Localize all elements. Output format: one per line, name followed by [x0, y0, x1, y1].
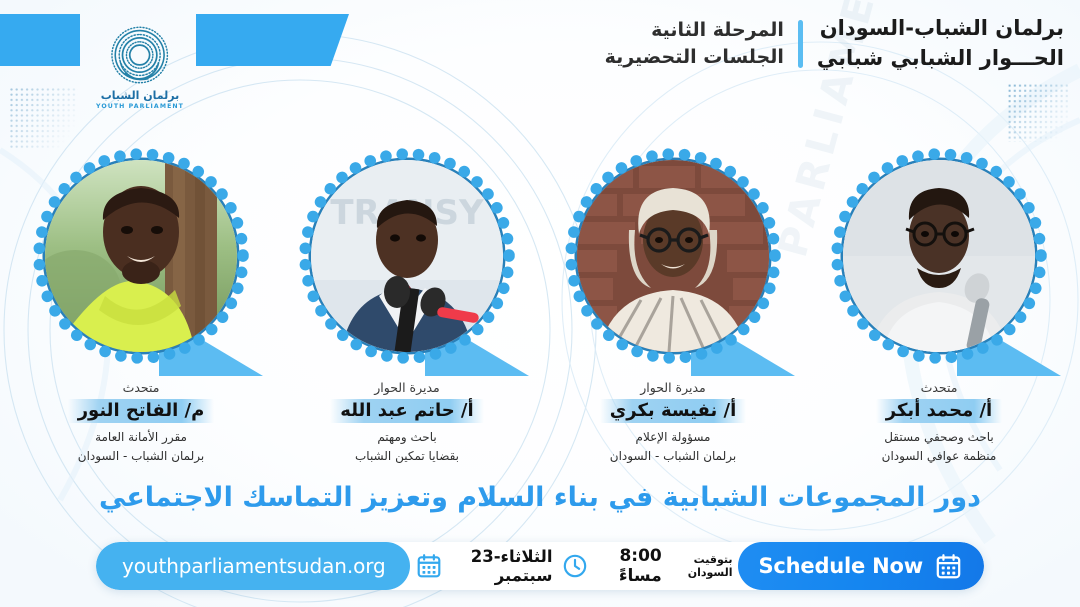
speaker-role: مديرة الحوار: [278, 380, 536, 395]
speaker-name-wrap: أ/ نفيسة بكري: [544, 399, 802, 423]
speaker-name: أ/ محمد أبكر: [876, 399, 1002, 423]
logo-text-english: YOUTH PARLIAMENT: [90, 103, 190, 110]
speakers-row: متحدث م/ الفاتح النور مقرر الأمانة العام…: [0, 148, 1080, 468]
main-title: دور المجموعات الشبابية في بناء السلام وت…: [0, 480, 1080, 516]
speaker-card: متحدث م/ الفاتح النور مقرر الأمانة العام…: [12, 148, 270, 465]
photo-dot-ring: [565, 148, 781, 364]
speaker-name-wrap: م/ الفاتح النور: [12, 399, 270, 423]
speaker-name-wrap: أ/ محمد أبكر: [810, 399, 1068, 423]
speaker-card: TRANSY: [278, 148, 536, 465]
speaker-role: متحدث: [810, 380, 1068, 395]
dot-grid-right: [1008, 84, 1070, 142]
speaker-info: مديرة الحوار أ/ نفيسة بكري مسؤولة الإعلا…: [544, 380, 802, 465]
speaker-name: أ/ نفيسة بكري: [600, 399, 747, 423]
header-subtitle: المرحلة الثانية الجلسات التحضيرية: [605, 17, 784, 71]
calendar-icon: [416, 553, 442, 579]
speaker-info: مديرة الحوار أ/ حاتم عبد الله باحث ومهتم…: [278, 380, 536, 465]
brand-logo: برلمان الشباب YOUTH PARLIAMENT: [90, 22, 190, 110]
header-subtitle-line2: الجلسات التحضيرية: [605, 44, 784, 71]
event-details: الثلاثاء-23 سبتمبر 8:00 مساءً بتوقيت الس…: [410, 546, 739, 586]
speaker-org-line2: بقضايا تمكين الشباب: [278, 447, 536, 466]
header-title-line1: برلمان الشباب-السودان: [817, 14, 1064, 44]
speaker-org-line1: مقرر الأمانة العامة: [12, 428, 270, 447]
speaker-photo-wrap: TRANSY: [299, 148, 515, 364]
speaker-photo-wrap: [831, 148, 1047, 364]
speaker-card: متحدث أ/ محمد أبكر باحث وصحفي مستقل منظم…: [810, 148, 1068, 465]
speaker-photo-wrap: [33, 148, 249, 364]
header-block: برلمان الشباب-السودان الحـــوار الشبابي …: [605, 14, 1064, 74]
header-title: برلمان الشباب-السودان الحـــوار الشبابي …: [817, 14, 1064, 74]
speaker-org-line1: مسؤولة الإعلام: [544, 428, 802, 447]
photo-dot-ring: [299, 148, 515, 364]
dot-grid-left: [10, 88, 78, 150]
speaker-name: أ/ حاتم عبد الله: [330, 399, 483, 423]
clock-icon: [562, 553, 588, 579]
logo-text-arabic: برلمان الشباب: [90, 90, 190, 102]
header-title-line2: الحـــوار الشبابي شبابي: [817, 44, 1064, 74]
event-time: 8:00 مساءً: [598, 546, 661, 586]
speaker-photo-wrap: [565, 148, 781, 364]
speaker-org-line2: منظمة عوافي السودان: [810, 447, 1068, 466]
decor-rectangle: [0, 14, 80, 66]
speaker-name-wrap: أ/ حاتم عبد الله: [278, 399, 536, 423]
photo-dot-ring: [33, 148, 249, 364]
website-pill[interactable]: youthparliamentsudan.org: [96, 542, 410, 590]
speaker-card: مديرة الحوار أ/ نفيسة بكري مسؤولة الإعلا…: [544, 148, 802, 465]
header-subtitle-line1: المرحلة الثانية: [605, 17, 784, 44]
speaker-info: متحدث أ/ محمد أبكر باحث وصحفي مستقل منظم…: [810, 380, 1068, 465]
event-timezone: بتوقيت السودان: [672, 553, 733, 579]
speaker-org-line1: باحث ومهتم: [278, 428, 536, 447]
photo-dot-ring: [831, 148, 1047, 364]
calendar-icon: [935, 553, 962, 580]
speaker-org-line2: برلمان الشباب - السودان: [544, 447, 802, 466]
event-date: الثلاثاء-23 سبتمبر: [452, 547, 553, 585]
schedule-now-button[interactable]: Schedule Now: [738, 542, 984, 590]
website-url: youthparliamentsudan.org: [122, 554, 386, 578]
spiral-swirl-icon: [107, 22, 173, 88]
schedule-button-label: Schedule Now: [758, 554, 923, 578]
speaker-role: مديرة الحوار: [544, 380, 802, 395]
speaker-org-line1: باحث وصحفي مستقل: [810, 428, 1068, 447]
speaker-role: متحدث: [12, 380, 270, 395]
speaker-org-line2: برلمان الشباب - السودان: [12, 447, 270, 466]
speaker-name: م/ الفاتح النور: [68, 399, 215, 423]
header-divider: [798, 20, 803, 68]
speaker-info: متحدث م/ الفاتح النور مقرر الأمانة العام…: [12, 380, 270, 465]
bottom-info-bar: youthparliamentsudan.org الثلاثاء-23 سبت…: [96, 542, 984, 590]
decor-parallelogram: [196, 14, 349, 66]
poster-canvas: PARLIAMENT: [0, 0, 1080, 607]
